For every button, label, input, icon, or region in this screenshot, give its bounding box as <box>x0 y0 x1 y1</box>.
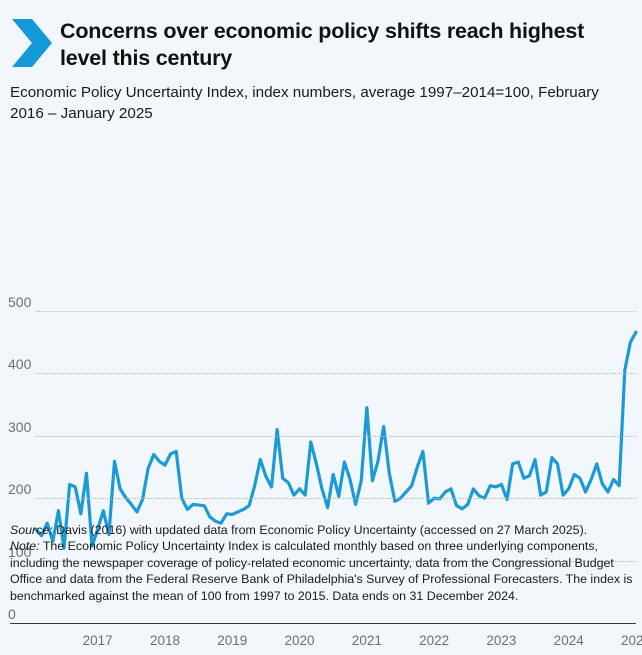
header: Concerns over economic policy shifts rea… <box>0 0 642 72</box>
page-title: Concerns over economic policy shifts rea… <box>60 18 624 72</box>
gridline <box>36 436 636 437</box>
x-tick-label: 2021 <box>352 633 382 648</box>
y-tick-label: 300 <box>8 419 31 435</box>
source-label: Source: <box>10 523 53 537</box>
x-tick-label: 2019 <box>217 633 247 648</box>
y-tick-label: 400 <box>8 356 31 372</box>
x-tick-label: 2017 <box>83 633 113 648</box>
gridline <box>36 373 636 374</box>
x-tick-label: 2022 <box>419 633 449 648</box>
y-tick-label: 500 <box>8 294 31 310</box>
source-note: Source: Davis (2016) with updated data f… <box>10 522 634 538</box>
x-tick-label: 2020 <box>285 633 315 648</box>
x-tick-label: 2018 <box>150 633 180 648</box>
chart-subtitle: Economic Policy Uncertainty Index, index… <box>0 72 642 124</box>
methodology-note: Note: The Economic Policy Uncertainty In… <box>10 538 634 604</box>
footnotes: Source: Davis (2016) with updated data f… <box>10 522 634 604</box>
chevron-right-icon <box>10 16 54 70</box>
x-axis-labels: 201720182019202020212022202320242025 <box>0 633 642 655</box>
x-axis-line <box>10 623 636 624</box>
note-text: The Economic Policy Uncertainty Index is… <box>10 539 632 602</box>
note-label: Note: <box>10 539 40 553</box>
x-tick-label: 2023 <box>486 633 516 648</box>
gridline <box>36 311 636 312</box>
x-tick-label: 2024 <box>554 633 584 648</box>
chart-page: Concerns over economic policy shifts rea… <box>0 0 642 612</box>
source-text: Davis (2016) with updated data from Econ… <box>53 523 587 537</box>
chart-area: 0100200300400500 20172018201920202021202… <box>0 138 642 498</box>
gridline <box>36 498 636 499</box>
y-tick-label: 0 <box>8 606 16 622</box>
x-tick-label: 2025 <box>621 633 642 648</box>
y-tick-label: 200 <box>8 481 31 497</box>
